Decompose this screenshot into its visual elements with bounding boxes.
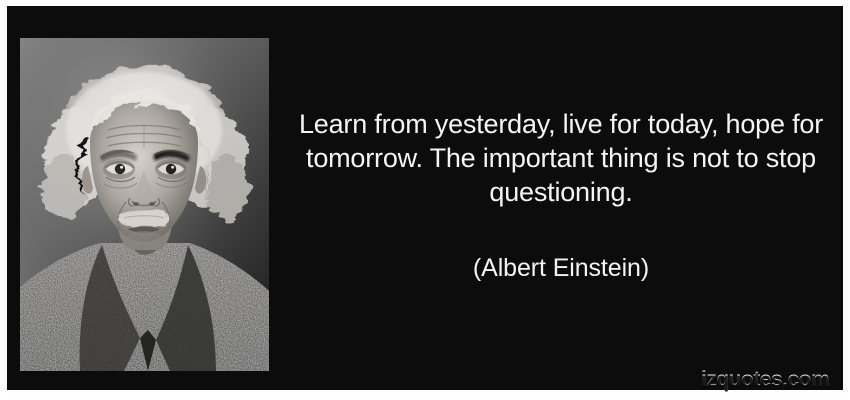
quote-card: Learn from yesterday, live for today, ho… <box>0 0 850 400</box>
quote-line-1: Learn from yesterday, live for today, ho… <box>283 107 839 141</box>
quote-line-3: questioning. <box>283 175 839 209</box>
izquotes-watermark: izquotes.com <box>701 368 829 392</box>
quote-line-2: tomorrow. The important thing is not to … <box>283 141 839 175</box>
quote-panel: Learn from yesterday, live for today, ho… <box>4 3 846 393</box>
quote-text: Learn from yesterday, live for today, ho… <box>283 107 839 209</box>
albert-einstein-portrait <box>20 38 269 371</box>
portrait-illustration <box>20 38 269 371</box>
quote-attribution: (Albert Einstein) <box>283 253 839 283</box>
